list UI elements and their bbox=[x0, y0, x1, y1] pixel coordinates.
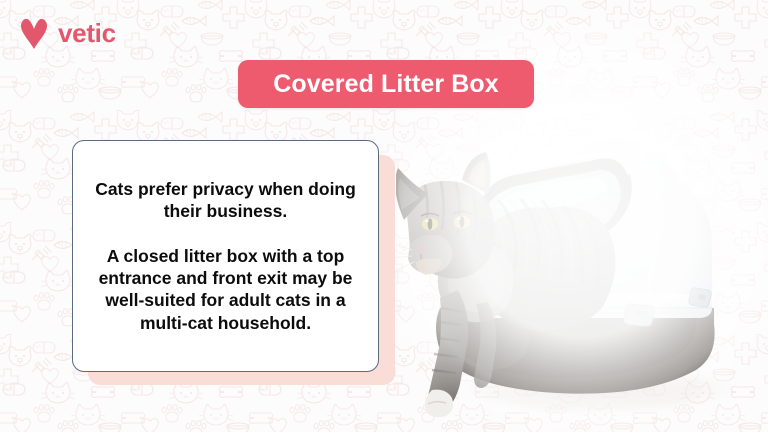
page-title: Covered Litter Box bbox=[273, 70, 498, 99]
cat-photo bbox=[396, 112, 768, 432]
title-banner: Covered Litter Box bbox=[238, 60, 534, 108]
heart-icon bbox=[18, 16, 50, 50]
info-card: Cats prefer privacy when doing their bus… bbox=[72, 140, 379, 372]
slide-canvas: vetic Covered Litter Box Cats prefer pri… bbox=[0, 0, 768, 432]
brand-logo[interactable]: vetic bbox=[18, 16, 116, 50]
info-paragraph-1: Cats prefer privacy when doing their bus… bbox=[89, 178, 362, 223]
info-paragraph-2: A closed litter box with a top entrance … bbox=[89, 245, 362, 335]
brand-name: vetic bbox=[58, 20, 116, 46]
